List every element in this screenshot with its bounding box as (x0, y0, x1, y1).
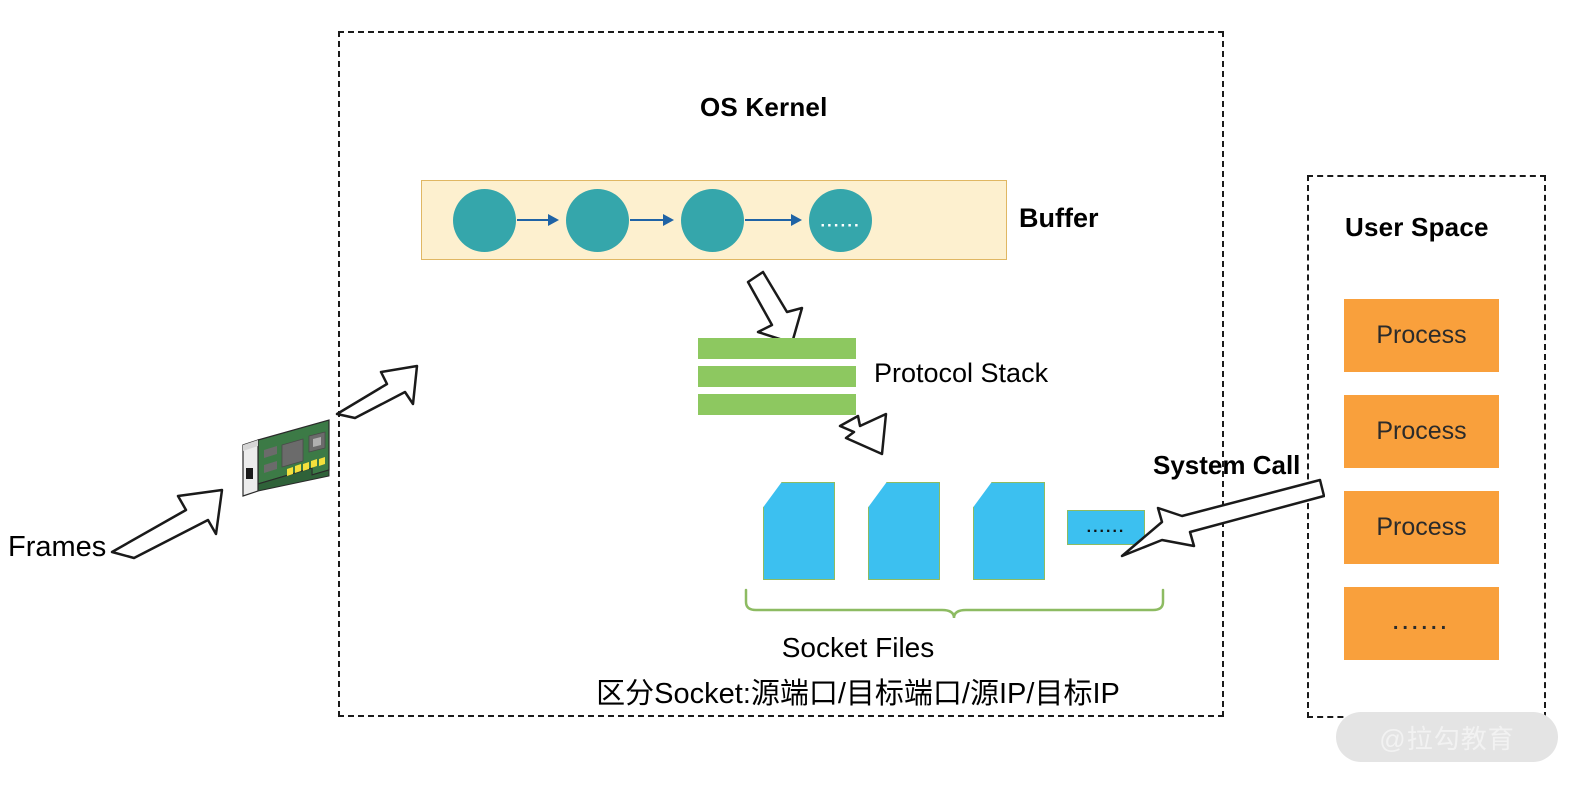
protocol-stack-to-socket-arrow (836, 410, 894, 458)
system-call-arrow (1120, 478, 1325, 568)
buffer-connector-arrow (630, 219, 672, 221)
protocol-stack-layer (698, 338, 856, 359)
process-label: ...... (1393, 612, 1450, 635)
buffer-panel: ...... (421, 180, 1007, 260)
process-box: Process (1344, 299, 1499, 372)
os-kernel-title: OS Kernel (700, 92, 828, 123)
socket-file (868, 482, 940, 580)
user-space-title: User Space (1345, 212, 1489, 243)
socket-files-brace (742, 588, 1167, 620)
process-label: Process (1376, 513, 1466, 542)
process-box: Process (1344, 395, 1499, 468)
protocol-stack-layer (698, 394, 856, 415)
system-call-label: System Call (1153, 450, 1300, 481)
buffer-node (453, 189, 516, 252)
frames-label: Frames (8, 531, 106, 564)
buffer-node (681, 189, 744, 252)
socket-file (973, 482, 1045, 580)
protocol-stack-layer (698, 366, 856, 387)
buffer-node-label: ...... (809, 212, 872, 229)
network-interface-card-icon (232, 418, 336, 506)
buffer-node-ellipsis: ...... (809, 189, 872, 252)
buffer-connector-arrow (745, 219, 800, 221)
process-label: Process (1376, 417, 1466, 446)
protocol-stack-label: Protocol Stack (874, 358, 1048, 389)
diagram-canvas: OS Kernel ...... Buffer Protocol Stack (0, 0, 1576, 792)
process-box: Process (1344, 491, 1499, 564)
watermark: @拉勾教育 (1336, 712, 1558, 762)
process-box-ellipsis: ...... (1344, 587, 1499, 660)
process-label: Process (1376, 321, 1466, 350)
protocol-stack (698, 338, 856, 422)
buffer-node (566, 189, 629, 252)
buffer-connector-arrow (517, 219, 557, 221)
buffer-label: Buffer (1019, 203, 1099, 234)
frames-inbound-arrow (110, 480, 230, 560)
nic-to-kernel-arrow (335, 360, 420, 420)
socket-file (763, 482, 835, 580)
